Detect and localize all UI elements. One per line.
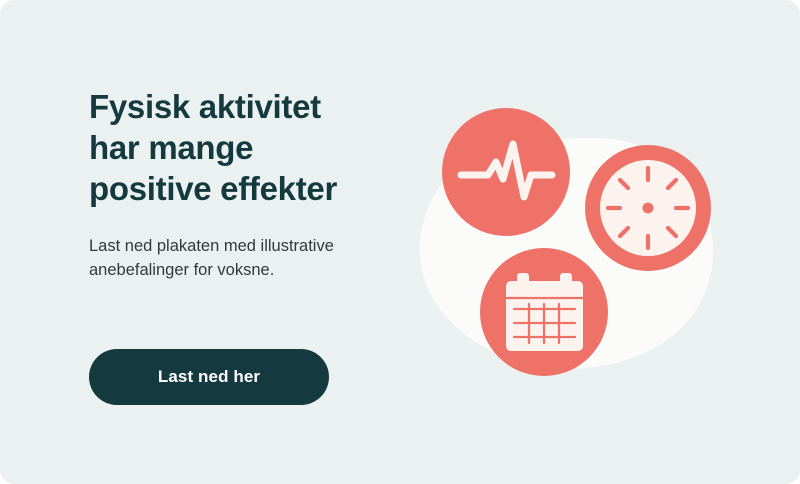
description-text: Last ned plakaten med illustrative anebe… [89,235,364,282]
calendar-icon-group [480,248,608,376]
illustration [400,80,740,410]
page-title: Fysisk aktivitet har mange positive effe… [89,86,409,209]
promo-card: Fysisk aktivitet har mange positive effe… [0,0,800,484]
calendar-icon-grid [514,304,575,343]
content-column: Fysisk aktivitet har mange positive effe… [89,86,409,209]
clock-icon-center-dot [643,203,654,214]
clock-icon-group [585,145,711,271]
download-button[interactable]: Last ned her [89,349,329,405]
pulse-icon-group [442,108,570,236]
